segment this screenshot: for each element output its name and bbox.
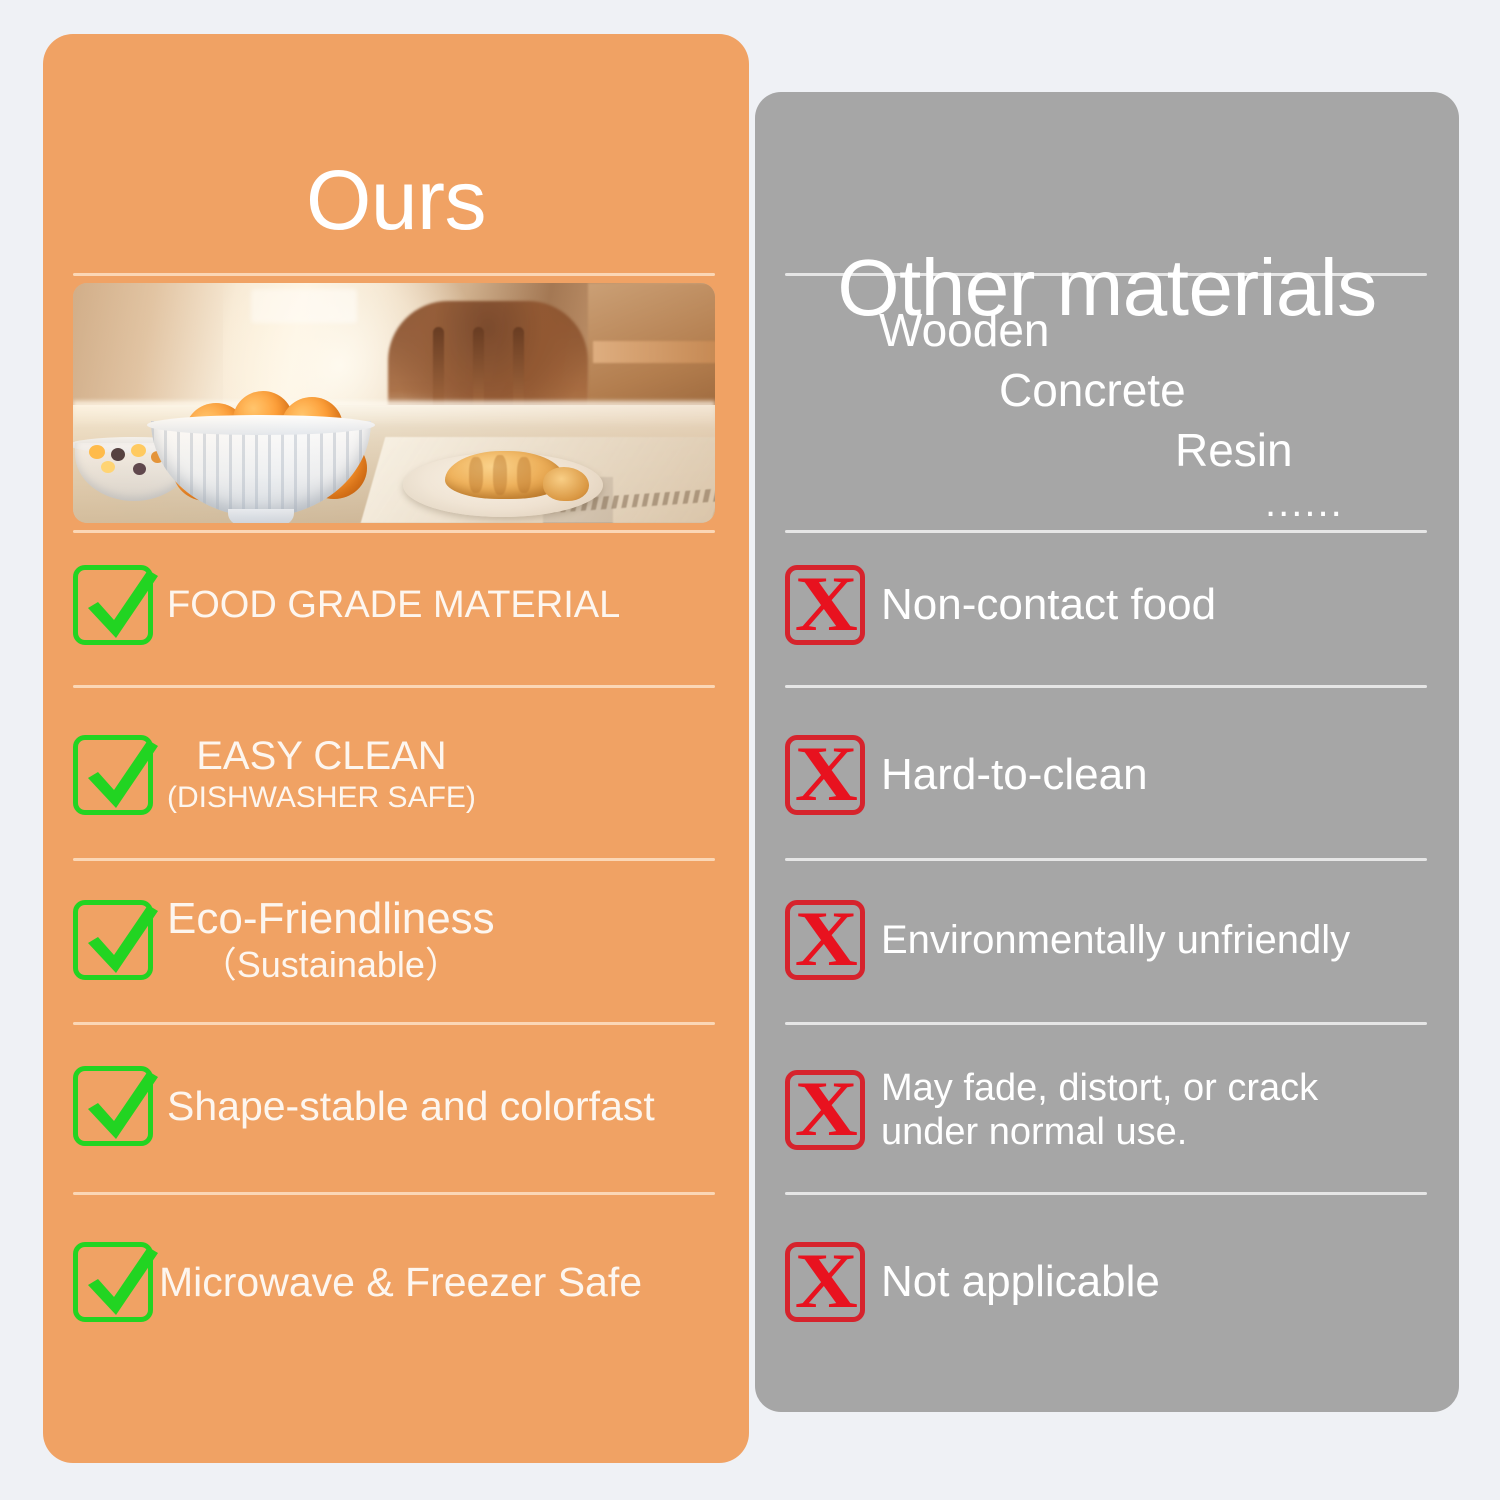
ours-feature-label: EASY CLEAN: [167, 733, 476, 779]
ours-feature-row: EASY CLEAN (DISHWASHER SAFE): [73, 733, 715, 817]
cross-icon: X: [785, 735, 865, 815]
cross-glyph: X: [795, 570, 856, 638]
other-feature-row: X Environmentally unfriendly: [785, 898, 1427, 982]
product-photo: [73, 283, 715, 523]
ours-divider-top: [73, 273, 715, 276]
cross-icon: X: [785, 900, 865, 980]
other-feature-label: May fade, distort, or crack: [881, 1066, 1318, 1110]
other-materials-list: Wooden Concrete Resin ......: [785, 300, 1427, 526]
ours-feature-sublabel: （Sustainable）: [167, 944, 495, 986]
ours-divider-4: [73, 1022, 715, 1025]
other-feature-label: Environmentally unfriendly: [881, 916, 1350, 964]
material-item-ellipsis: ......: [1265, 480, 1427, 526]
ours-feature-row: Microwave & Freezer Safe: [73, 1240, 715, 1324]
other-divider-2: [785, 685, 1427, 688]
other-feature-label: Not applicable: [881, 1256, 1160, 1308]
ours-feature-label: Eco-Friendliness: [167, 894, 495, 944]
cross-glyph: X: [795, 905, 856, 973]
material-item: Wooden: [879, 300, 1427, 360]
cross-glyph: X: [795, 740, 856, 808]
ours-feature-text: Shape-stable and colorfast: [167, 1082, 655, 1130]
material-item: Concrete: [999, 360, 1427, 420]
other-feature-sublabel: under normal use.: [881, 1110, 1318, 1154]
other-feature-text: Non-contact food: [881, 579, 1216, 631]
other-feature-text: Hard-to-clean: [881, 749, 1148, 801]
check-icon: [73, 1242, 153, 1322]
ours-feature-label: Shape-stable and colorfast: [167, 1082, 655, 1130]
ours-feature-sublabel: (DISHWASHER SAFE): [167, 779, 476, 817]
other-divider-5: [785, 1192, 1427, 1195]
other-feature-row: X Not applicable: [785, 1240, 1427, 1324]
other-feature-text: Environmentally unfriendly: [881, 916, 1350, 964]
ours-feature-label: FOOD GRADE MATERIAL: [167, 583, 620, 627]
other-feature-label: Hard-to-clean: [881, 749, 1148, 801]
ours-feature-text: Microwave & Freezer Safe: [159, 1258, 642, 1306]
ours-feature-text: EASY CLEAN (DISHWASHER SAFE): [167, 733, 476, 817]
other-feature-label: Non-contact food: [881, 579, 1216, 631]
ours-feature-label: Microwave & Freezer Safe: [159, 1258, 642, 1306]
other-feature-text: Not applicable: [881, 1256, 1160, 1308]
check-icon: [73, 900, 153, 980]
cross-icon: X: [785, 1070, 865, 1150]
cross-glyph: X: [795, 1247, 856, 1315]
ours-feature-row: Shape-stable and colorfast: [73, 1064, 715, 1148]
check-icon: [73, 1066, 153, 1146]
cross-icon: X: [785, 565, 865, 645]
other-divider-3: [785, 858, 1427, 861]
other-divider-1: [785, 530, 1427, 533]
other-divider-top: [785, 273, 1427, 276]
material-item: Resin: [1175, 420, 1427, 480]
comparison-infographic: Ours Other materials: [0, 0, 1500, 1500]
check-icon: [73, 735, 153, 815]
ours-divider-5: [73, 1192, 715, 1195]
ours-divider-3: [73, 858, 715, 861]
other-feature-row: X Hard-to-clean: [785, 733, 1427, 817]
cross-glyph: X: [795, 1075, 856, 1143]
check-icon: [73, 565, 153, 645]
ours-title: Ours: [43, 152, 749, 248]
other-feature-text: May fade, distort, or crack under normal…: [881, 1066, 1318, 1154]
other-feature-row: X Non-contact food: [785, 563, 1427, 647]
ours-divider-2: [73, 685, 715, 688]
other-feature-row: X May fade, distort, or crack under norm…: [785, 1064, 1427, 1156]
cross-icon: X: [785, 1242, 865, 1322]
ours-feature-text: Eco-Friendliness （Sustainable）: [167, 894, 495, 986]
ours-feature-text: FOOD GRADE MATERIAL: [167, 583, 620, 627]
ours-feature-row: FOOD GRADE MATERIAL: [73, 563, 715, 647]
ours-divider-1: [73, 530, 715, 533]
ours-feature-row: Eco-Friendliness （Sustainable）: [73, 898, 715, 982]
photo-warm-overlay: [73, 283, 715, 523]
other-divider-4: [785, 1022, 1427, 1025]
